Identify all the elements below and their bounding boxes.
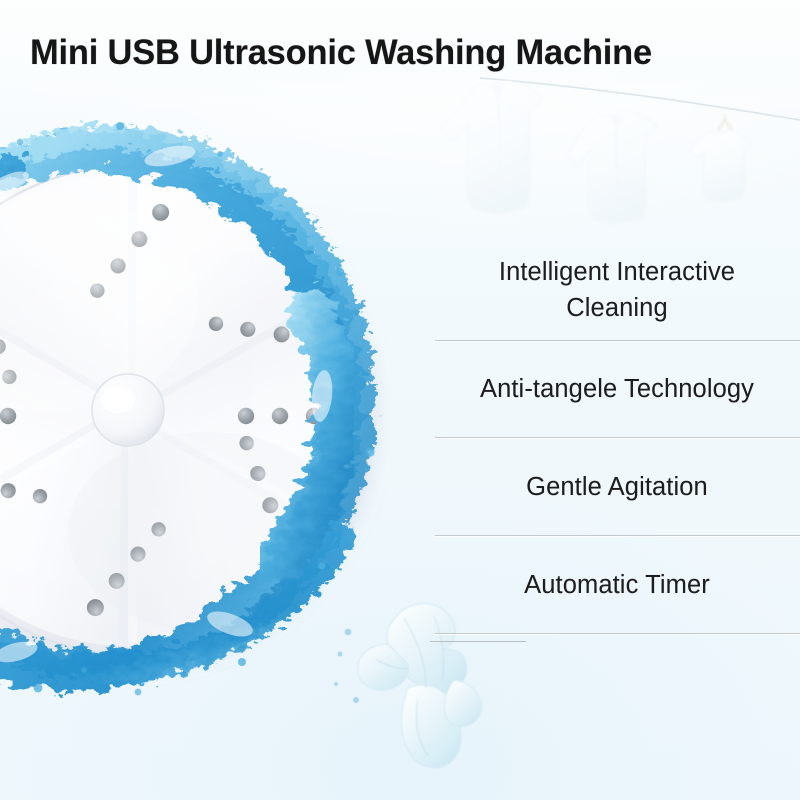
garment-long-sleeve-shirt-large	[440, 80, 544, 214]
feature-row-intelligent-interactive-cleaning: Intelligent Interactive Cleaning	[434, 240, 800, 340]
feature-row-automatic-timer: Automatic Timer	[434, 536, 800, 633]
clothesline-illustration	[420, 72, 800, 232]
feature-label: Gentle Agitation	[520, 469, 714, 505]
hanger-icon	[718, 120, 732, 130]
feature-row-gentle-agitation: Gentle Agitation	[434, 438, 800, 535]
feature-label: Automatic Timer	[518, 567, 716, 603]
product-infographic: Mini USB Ultrasonic Washing Machine	[0, 0, 800, 800]
feature-label: Anti-tangele Technology	[474, 371, 760, 407]
turbine-vanes	[0, 147, 364, 673]
feature-line-2: Cleaning	[499, 290, 735, 326]
feature-label: Intelligent Interactive Cleaning	[493, 254, 741, 326]
feature-list: Intelligent Interactive Cleaning Anti-ta…	[434, 232, 800, 636]
feature-divider-4	[435, 633, 800, 634]
feature-line-1: Intelligent Interactive	[499, 254, 735, 290]
feature-row-anti-tangele-technology: Anti-tangele Technology	[434, 341, 800, 437]
garment-short-sleeve-shirt-small	[690, 130, 752, 202]
page-title: Mini USB Ultrasonic Washing Machine	[30, 30, 767, 76]
garment-long-sleeve-shirt-medium	[566, 110, 658, 224]
washing-machine-turbine	[0, 152, 382, 668]
callout-leader-line	[430, 641, 526, 642]
